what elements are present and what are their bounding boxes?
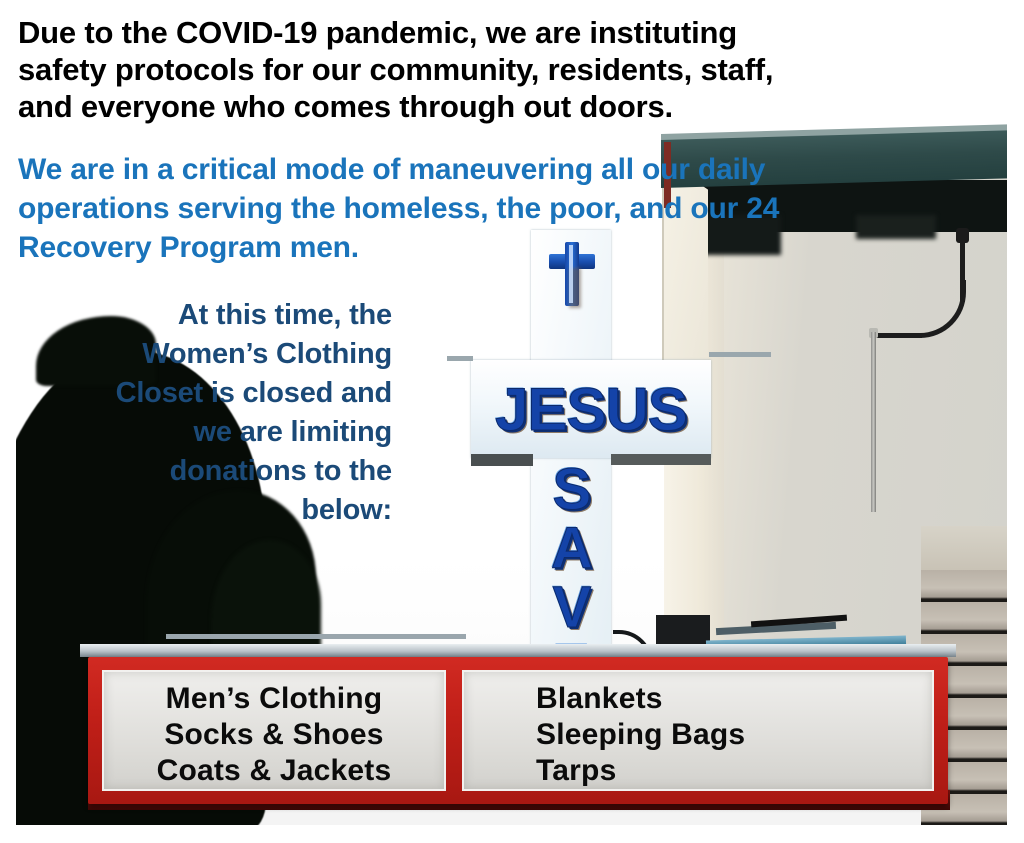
notice-line: operations serving the homeless, the poo… [18, 189, 1006, 228]
conduit-downpipe [871, 332, 876, 512]
marquee-sign-board: Men’s Clothing Socks & Shoes Coats & Jac… [88, 657, 948, 804]
notice-line: Due to the COVID-19 pandemic, we are ins… [18, 14, 1006, 51]
notice-line: We are in a critical mode of maneuvering… [18, 150, 1006, 189]
marquee-panel-right: Blankets Sleeping Bags Tarps [462, 670, 934, 791]
roof-hardware-box [656, 615, 710, 645]
donation-list-left: Men’s Clothing Socks & Shoes Coats & Jac… [120, 681, 428, 789]
list-item: Coats & Jackets [120, 753, 428, 789]
cross-mount-right [709, 352, 771, 357]
notice-line: below: [18, 491, 392, 530]
donation-list-right: Blankets Sleeping Bags Tarps [480, 681, 916, 789]
conduit-horizontal [874, 333, 922, 338]
notice-line: Recovery Program men. [18, 228, 1006, 267]
notice-paragraph-black: Due to the COVID-19 pandemic, we are ins… [18, 14, 1006, 125]
cross-mount-left [447, 356, 473, 361]
building-siding-top [921, 526, 1007, 572]
marquee-panel-left: Men’s Clothing Socks & Shoes Coats & Jac… [102, 670, 446, 791]
notice-paragraph-blue: We are in a critical mode of maneuvering… [18, 150, 1006, 267]
marquee-top-tube [166, 634, 466, 639]
list-item: Tarps [480, 753, 916, 789]
list-item: Socks & Shoes [120, 717, 428, 753]
list-item: Men’s Clothing [120, 681, 428, 717]
notice-line: Closet is closed and [18, 374, 392, 413]
sign-letter-a: A [551, 521, 593, 578]
list-item: Sleeping Bags [480, 717, 916, 753]
cross-edge-left [471, 454, 533, 466]
notice-line: At this time, the [18, 296, 392, 335]
list-item: Blankets [480, 681, 916, 717]
sign-letter-s1: S [553, 462, 592, 519]
cross-edge-right [611, 454, 711, 465]
notice-line: safety protocols for our community, resi… [18, 51, 1006, 88]
notice-line: donations to the [18, 452, 392, 491]
notice-line: Women’s Clothing [18, 335, 392, 374]
notice-line: and everyone who comes through out doors… [18, 88, 1006, 125]
notice-paragraph-navy: At this time, the Women’s Clothing Close… [18, 296, 392, 530]
notice-line: we are limiting [18, 413, 392, 452]
sign-text-jesus: JESUS [479, 366, 703, 452]
covid-notice-flyer: JESUS S A V E S Men’s Clothing [0, 0, 1024, 843]
marquee-top-rail [80, 644, 956, 657]
sign-letter-v: V [553, 580, 592, 637]
